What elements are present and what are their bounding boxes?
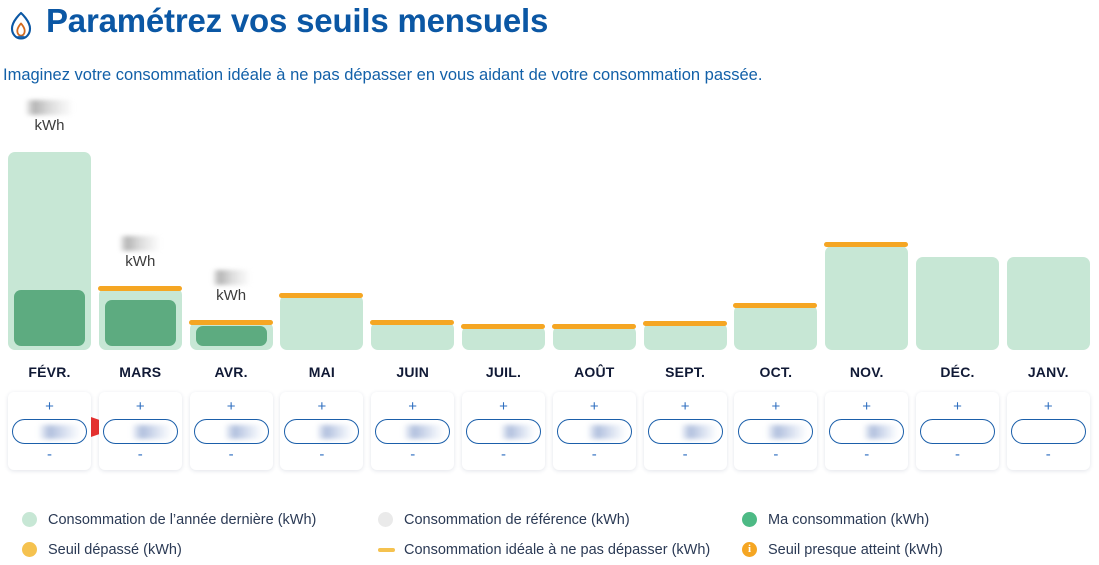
info-icon: i [742,542,757,557]
month-label-juin: JUIN [371,364,454,380]
stepper-decrement-button[interactable]: - [1007,447,1090,463]
stepper-decrement-button[interactable]: - [8,447,91,463]
stepper-decrement-button[interactable]: - [553,447,636,463]
blurred-input-value [588,425,626,439]
month-label-juil: JUIL. [462,364,545,380]
legend-label: Ma consommation (kWh) [768,511,929,529]
stepper-decrement-button[interactable]: - [916,447,999,463]
blurred-value [26,100,73,115]
bar-reference-nov[interactable] [825,246,908,350]
value-label-avr: kWh [190,270,273,305]
blurred-input-value [132,425,172,439]
month-label-dc: DÉC. [916,364,999,380]
legend-label: Seuil presque atteint (kWh) [768,541,943,559]
bar-myconsumption-avr[interactable] [196,326,267,346]
threshold-line-juin [370,320,454,325]
blurred-input-value [501,425,535,439]
stepper-increment-button[interactable]: + [825,399,908,415]
stepper-increment-button[interactable]: + [462,399,545,415]
stepper-decrement-button[interactable]: - [99,447,182,463]
stepper-increment-button[interactable]: + [280,399,363,415]
blurred-input-value [767,425,807,439]
value-unit: kWh [216,287,246,304]
stepper-increment-button[interactable]: + [1007,399,1090,415]
month-label-aot: AOÛT [553,364,636,380]
threshold-line-sept [643,321,727,326]
threshold-stepper-janv[interactable]: +- [1007,392,1090,470]
threshold-stepper-juin[interactable]: +- [371,392,454,470]
stepper-increment-button[interactable]: + [8,399,91,415]
month-label-sept: SEPT. [644,364,727,380]
threshold-line-mai [279,293,363,298]
bar-reference-oct[interactable] [734,305,817,350]
bar-reference-sept[interactable] [644,323,727,350]
value-label-mars: kWh [99,236,182,271]
threshold-input[interactable] [194,419,269,444]
threshold-input[interactable] [12,419,87,444]
bar-reference-juil[interactable] [462,326,545,350]
blurred-value [213,270,250,285]
bar-reference-dc[interactable] [916,257,999,350]
threshold-line-nov [824,242,908,247]
threshold-input[interactable] [466,419,541,444]
month-label-mars: MARS [99,364,182,380]
stepper-increment-button[interactable]: + [644,399,727,415]
stepper-decrement-button[interactable]: - [644,447,727,463]
blurred-input-value [681,425,717,439]
threshold-stepper-fvr[interactable]: +- [8,392,91,470]
legend-swatch-circle [742,512,757,527]
threshold-input[interactable] [375,419,450,444]
month-label-fvr: FÉVR. [8,364,91,380]
threshold-stepper-mai[interactable]: +- [280,392,363,470]
threshold-stepper-mars[interactable]: +- [99,392,182,470]
value-unit: kWh [35,117,65,134]
stepper-decrement-button[interactable]: - [190,447,273,463]
threshold-input[interactable] [738,419,813,444]
threshold-stepper-avr[interactable]: +- [190,392,273,470]
month-label-janv: JANV. [1007,364,1090,380]
threshold-input[interactable] [103,419,178,444]
threshold-stepper-dc[interactable]: +- [916,392,999,470]
threshold-line-oct [733,303,817,308]
stepper-increment-button[interactable]: + [371,399,454,415]
threshold-stepper-juil[interactable]: +- [462,392,545,470]
bar-myconsumption-mars[interactable] [105,300,176,346]
stepper-increment-button[interactable]: + [734,399,817,415]
blurred-input-value [404,425,444,439]
stepper-decrement-button[interactable]: - [462,447,545,463]
legend-swatch-circle [22,512,37,527]
blurred-input-value [317,425,353,439]
blurred-input-value [864,425,898,439]
threshold-line-avr [189,320,273,325]
threshold-stepper-sept[interactable]: +- [644,392,727,470]
stepper-decrement-button[interactable]: - [371,447,454,463]
threshold-line-aot [552,324,636,329]
threshold-stepper-aot[interactable]: +- [553,392,636,470]
threshold-input[interactable] [284,419,359,444]
threshold-input[interactable] [557,419,632,444]
bar-reference-aot[interactable] [553,326,636,350]
threshold-stepper-nov[interactable]: +- [825,392,908,470]
threshold-input[interactable] [648,419,723,444]
threshold-input[interactable] [1011,419,1086,444]
legend-label: Consommation de l’année dernière (kWh) [48,511,316,529]
stepper-increment-button[interactable]: + [916,399,999,415]
stepper-decrement-button[interactable]: - [280,447,363,463]
legend-label: Consommation de référence (kWh) [404,511,630,529]
stepper-decrement-button[interactable]: - [825,447,908,463]
blurred-value [120,236,160,251]
blurred-input-value [39,425,81,439]
chart-legend: Consommation de l’année dernière (kWh)Se… [0,500,1099,565]
blurred-input-value [225,425,263,439]
month-label-avr: AVR. [190,364,273,380]
legend-swatch-circle [22,542,37,557]
month-label-mai: MAI [280,364,363,380]
bar-reference-janv[interactable] [1007,257,1090,350]
month-label-nov: NOV. [825,364,908,380]
threshold-input[interactable] [829,419,904,444]
threshold-line-mars [98,286,182,291]
monthly-thresholds-chart: FÉVR.MARSAVR.MAIJUINJUIL.AOÛTSEPT.OCT.NO… [0,0,1099,390]
value-label-fvr: kWh [8,100,91,135]
bar-reference-juin[interactable] [371,322,454,350]
threshold-input[interactable] [920,419,995,444]
stepper-increment-button[interactable]: + [553,399,636,415]
legend-swatch-circle [378,512,393,527]
legend-swatch-dash [378,548,395,552]
stepper-increment-button[interactable]: + [99,399,182,415]
stepper-decrement-button[interactable]: - [734,447,817,463]
stepper-increment-button[interactable]: + [190,399,273,415]
bar-myconsumption-fvr[interactable] [14,290,85,346]
legend-label: Seuil dépassé (kWh) [48,541,182,559]
month-label-oct: OCT. [734,364,817,380]
threshold-line-juil [461,324,545,329]
value-unit: kWh [125,253,155,270]
bar-reference-mai[interactable] [280,295,363,350]
legend-label: Consommation idéale à ne pas dépasser (k… [404,541,710,559]
threshold-stepper-oct[interactable]: +- [734,392,817,470]
